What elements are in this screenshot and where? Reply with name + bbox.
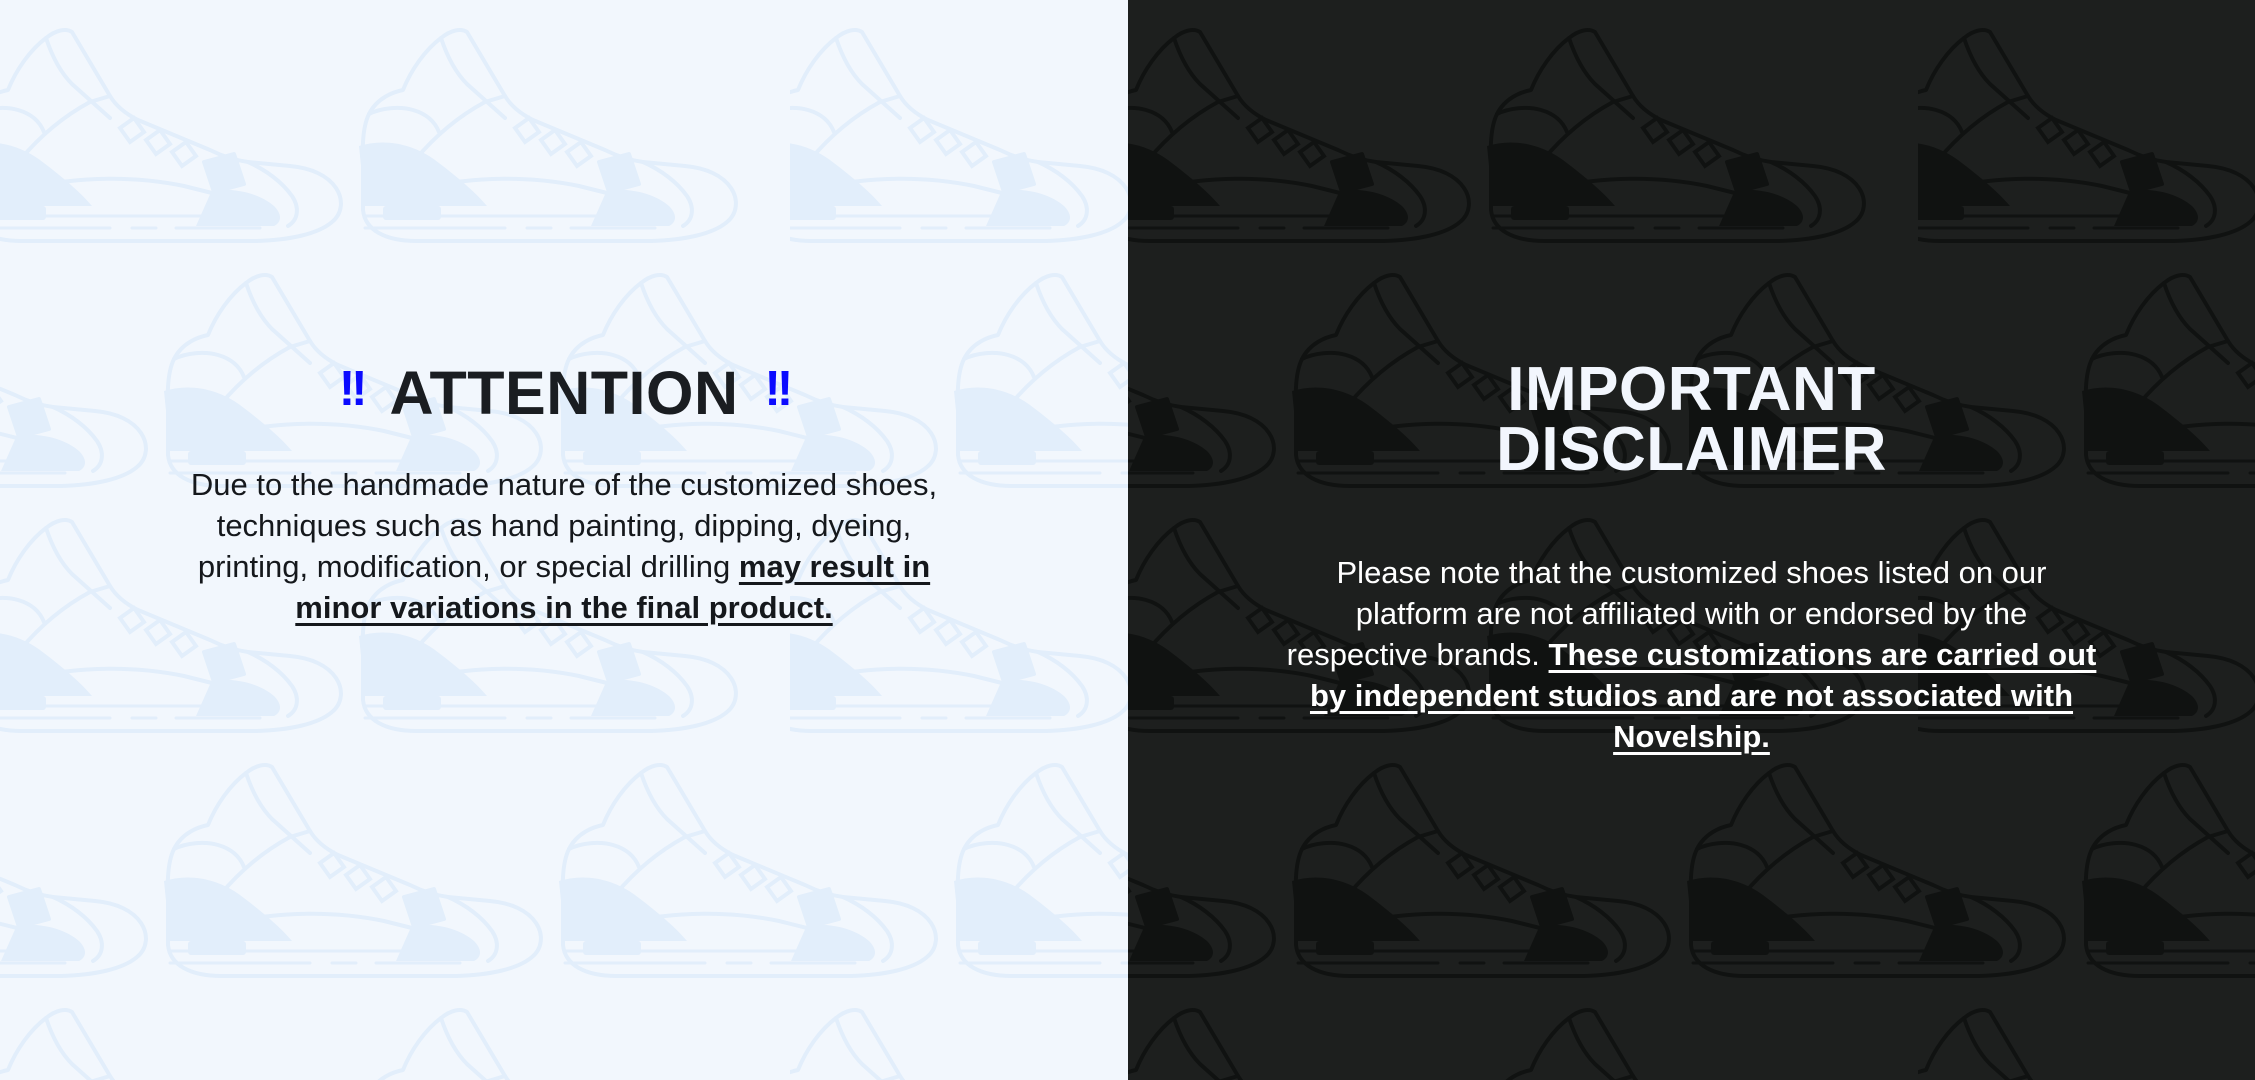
disclaimer-heading-line-2: DISCLAIMER (1496, 420, 1887, 480)
disclaimer-body: Please note that the customized shoes li… (1282, 553, 2102, 758)
disclaimer-panel: IMPORTANT DISCLAIMER Please note that th… (1128, 0, 2255, 1080)
disclaimer-heading-line-1: IMPORTANT (1496, 360, 1887, 420)
customization-notice-banner: !! ATTENTION !! Due to the handmade natu… (0, 0, 2255, 1080)
double-exclamation-right-icon: !! (765, 365, 790, 414)
attention-content: !! ATTENTION !! Due to the handmade natu… (0, 0, 1128, 1080)
attention-body: Due to the handmade nature of the custom… (164, 465, 964, 629)
disclaimer-heading: IMPORTANT DISCLAIMER (1496, 360, 1887, 480)
double-exclamation-left-icon: !! (339, 365, 364, 414)
disclaimer-content: IMPORTANT DISCLAIMER Please note that th… (1128, 0, 2255, 1080)
attention-panel: !! ATTENTION !! Due to the handmade natu… (0, 0, 1128, 1080)
attention-title: ATTENTION (390, 358, 739, 428)
attention-heading: !! ATTENTION !! (339, 358, 789, 428)
